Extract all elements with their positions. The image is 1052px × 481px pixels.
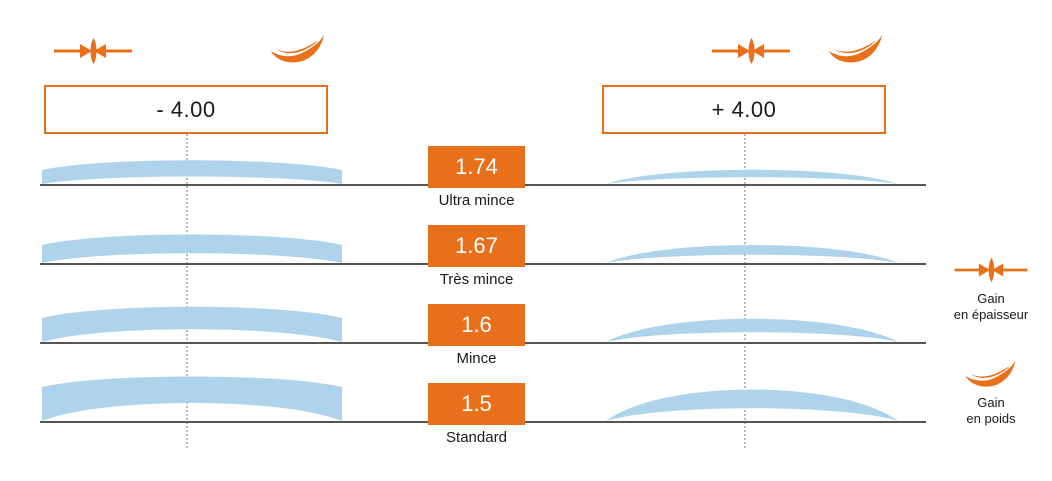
lens-shape-plus (602, 298, 902, 346)
legend: Gain en épaisseur Gain en poids (930, 255, 1052, 427)
legend-text-thickness: Gain en épaisseur (930, 291, 1052, 323)
lens-row: 1.67 Très mince (0, 219, 1052, 297)
lens-shape-plus (602, 219, 902, 267)
lens-shape-minus (42, 140, 342, 188)
feather-icon (826, 33, 886, 70)
lens-thickness-arrows-icon (52, 36, 134, 71)
lens-shape-minus (42, 219, 342, 267)
power-box-plus: + 4.00 (602, 85, 886, 134)
index-value: 1.67 (455, 233, 498, 259)
lens-shape-minus (42, 377, 342, 425)
index-badge: 1.6 (428, 304, 525, 346)
index-caption: Très mince (393, 271, 560, 288)
index-caption: Mince (393, 350, 560, 367)
lens-shape-plus (602, 140, 902, 188)
lens-thickness-arrows-icon (710, 36, 792, 71)
legend-line-2: en épaisseur (930, 307, 1052, 323)
index-badge: 1.74 (428, 146, 525, 188)
feather-icon (268, 33, 328, 70)
lens-thickness-arrows-icon (930, 255, 1052, 285)
legend-line-1: Gain (930, 291, 1052, 307)
lens-shape-minus (42, 298, 342, 346)
legend-item-weight: Gain en poids (930, 359, 1052, 427)
legend-line-1: Gain (930, 395, 1052, 411)
index-value: 1.5 (461, 391, 492, 417)
lens-shape-plus (602, 377, 902, 425)
lens-thickness-infographic: - 4.00 + 4.00 1.74 Ultra mince (0, 0, 1052, 481)
legend-text-weight: Gain en poids (930, 395, 1052, 427)
index-caption: Standard (393, 429, 560, 446)
lens-row: 1.74 Ultra mince (0, 140, 1052, 218)
lens-row: 1.6 Mince (0, 298, 1052, 376)
index-caption: Ultra mince (393, 192, 560, 209)
index-value: 1.74 (455, 154, 498, 180)
legend-item-thickness: Gain en épaisseur (930, 255, 1052, 323)
feather-icon (930, 359, 1052, 389)
power-box-minus: - 4.00 (44, 85, 328, 134)
index-value: 1.6 (461, 312, 492, 338)
index-badge: 1.5 (428, 383, 525, 425)
legend-line-2: en poids (930, 411, 1052, 427)
index-badge: 1.67 (428, 225, 525, 267)
lens-row: 1.5 Standard (0, 377, 1052, 455)
